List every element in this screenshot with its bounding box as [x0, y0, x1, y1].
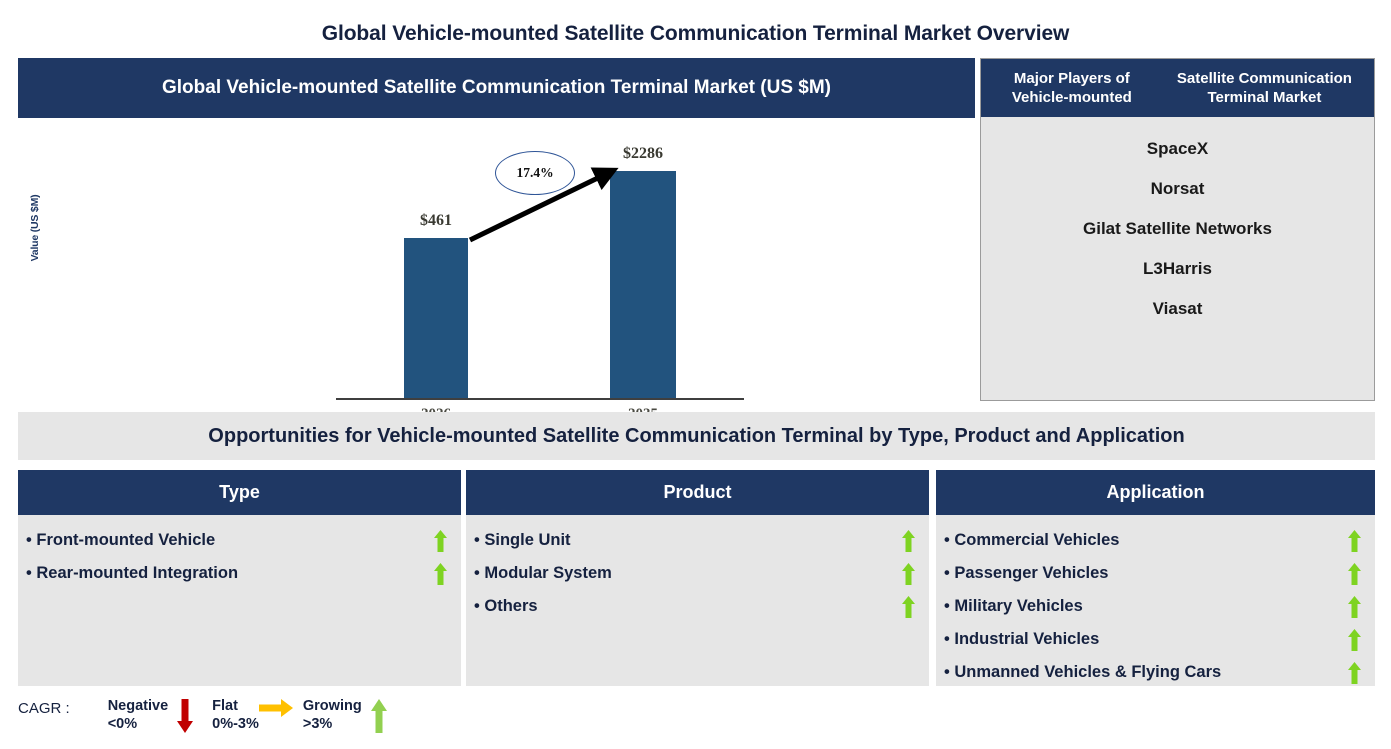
- opportunity-column-header-product: Product: [466, 470, 929, 515]
- player-item: Gilat Satellite Networks: [981, 209, 1374, 249]
- opportunity-list-application: Commercial Vehicles Passenger Vehicles M…: [936, 515, 1375, 689]
- bar-2026: [404, 238, 468, 398]
- opportunity-label: Single Unit: [474, 531, 902, 550]
- arrow-up-icon: [902, 530, 915, 552]
- list-item: Modular System: [466, 557, 929, 590]
- arrow-up-icon: [434, 530, 447, 552]
- arrow-up-icon: [1348, 629, 1361, 651]
- players-header-line2: Satellite Communication Terminal Market: [1161, 69, 1368, 107]
- player-item: Norsat: [981, 169, 1374, 209]
- list-item: Industrial Vehicles: [936, 623, 1375, 656]
- arrow-up-icon: [1348, 563, 1361, 585]
- players-panel-header: Major Players of Vehicle-mounted Satelli…: [981, 59, 1374, 117]
- list-item: Unmanned Vehicles & Flying Cars: [936, 656, 1375, 689]
- legend-entry-flat: Flat 0%-3%: [212, 697, 293, 733]
- opportunity-column-header-type: Type: [18, 470, 461, 515]
- arrow-down-icon: [177, 699, 193, 733]
- cagr-legend: CAGR : Negative <0% Flat 0%-3% Growing >…: [18, 697, 406, 733]
- list-item: Single Unit: [466, 524, 929, 557]
- growth-arrow-icon: [18, 118, 975, 401]
- list-item: Passenger Vehicles: [936, 557, 1375, 590]
- cagr-annotation-bubble: 17.4%: [495, 151, 575, 195]
- legend-negative-text: Negative <0%: [108, 697, 168, 733]
- opportunity-label: Others: [474, 597, 902, 616]
- legend-flat-text: Flat 0%-3%: [212, 697, 259, 733]
- legend-flat-label: Flat: [212, 698, 238, 714]
- opportunity-label: Unmanned Vehicles & Flying Cars: [944, 663, 1348, 682]
- legend-negative-range: <0%: [108, 715, 168, 733]
- player-item: SpaceX: [981, 129, 1374, 169]
- arrow-up-icon: [1348, 596, 1361, 618]
- opportunity-label: Modular System: [474, 564, 902, 583]
- legend-entry-growing: Growing >3%: [303, 697, 396, 733]
- chart-panel-header: Global Vehicle-mounted Satellite Communi…: [18, 58, 975, 118]
- players-list: SpaceX Norsat Gilat Satellite Networks L…: [981, 117, 1374, 329]
- opportunity-column-product: Product Single Unit Modular System Other…: [466, 470, 929, 686]
- player-item: L3Harris: [981, 249, 1374, 289]
- opportunity-label: Passenger Vehicles: [944, 564, 1348, 583]
- arrow-up-icon: [1348, 530, 1361, 552]
- bar-2035: [610, 171, 676, 398]
- list-item: Rear-mounted Integration: [18, 557, 461, 590]
- chart-plot-area: Value (US $M) $461 $2286 17.4% 2026 2035…: [18, 118, 975, 401]
- opportunity-column-header-application: Application: [936, 470, 1375, 515]
- arrow-up-icon: [902, 563, 915, 585]
- opportunity-label: Industrial Vehicles: [944, 630, 1348, 649]
- arrow-right-icon: [259, 699, 293, 717]
- list-item: Commercial Vehicles: [936, 524, 1375, 557]
- legend-flat-range: 0%-3%: [212, 715, 259, 733]
- market-chart-panel: Global Vehicle-mounted Satellite Communi…: [18, 58, 975, 401]
- opportunity-list-type: Front-mounted Vehicle Rear-mounted Integ…: [18, 515, 461, 590]
- opportunity-label: Military Vehicles: [944, 597, 1348, 616]
- cagr-legend-title: CAGR :: [18, 697, 70, 717]
- opportunities-band-title: Opportunities for Vehicle-mounted Satell…: [18, 412, 1375, 460]
- arrow-up-icon: [1348, 662, 1361, 684]
- arrow-up-icon: [902, 596, 915, 618]
- list-item: Military Vehicles: [936, 590, 1375, 623]
- opportunity-column-application: Application Commercial Vehicles Passenge…: [936, 470, 1375, 686]
- legend-negative-icon-wrap: [168, 697, 202, 733]
- legend-growing-icon-wrap: [362, 697, 396, 733]
- legend-entry-negative: Negative <0%: [108, 697, 202, 733]
- players-header-line1: Major Players of Vehicle-mounted: [987, 69, 1157, 107]
- opportunity-label: Commercial Vehicles: [944, 531, 1348, 550]
- opportunity-label: Rear-mounted Integration: [26, 564, 434, 583]
- y-axis-title: Value (US $M): [29, 183, 41, 273]
- legend-growing-text: Growing >3%: [303, 697, 362, 733]
- legend-flat-icon-wrap: [259, 697, 293, 717]
- legend-negative-label: Negative: [108, 698, 168, 714]
- list-item: Others: [466, 590, 929, 623]
- bar-value-2026: $461: [386, 212, 486, 230]
- bar-value-2035: $2286: [593, 145, 693, 163]
- arrow-up-icon: [371, 699, 387, 733]
- opportunity-list-product: Single Unit Modular System Others: [466, 515, 929, 623]
- opportunity-column-type: Type Front-mounted Vehicle Rear-mounted …: [18, 470, 461, 686]
- x-axis-line: [336, 398, 744, 400]
- major-players-panel: Major Players of Vehicle-mounted Satelli…: [980, 58, 1375, 401]
- arrow-up-icon: [434, 563, 447, 585]
- legend-growing-range: >3%: [303, 715, 362, 733]
- page-title: Global Vehicle-mounted Satellite Communi…: [0, 22, 1391, 46]
- legend-growing-label: Growing: [303, 698, 362, 714]
- player-item: Viasat: [981, 289, 1374, 329]
- list-item: Front-mounted Vehicle: [18, 524, 461, 557]
- opportunity-label: Front-mounted Vehicle: [26, 531, 434, 550]
